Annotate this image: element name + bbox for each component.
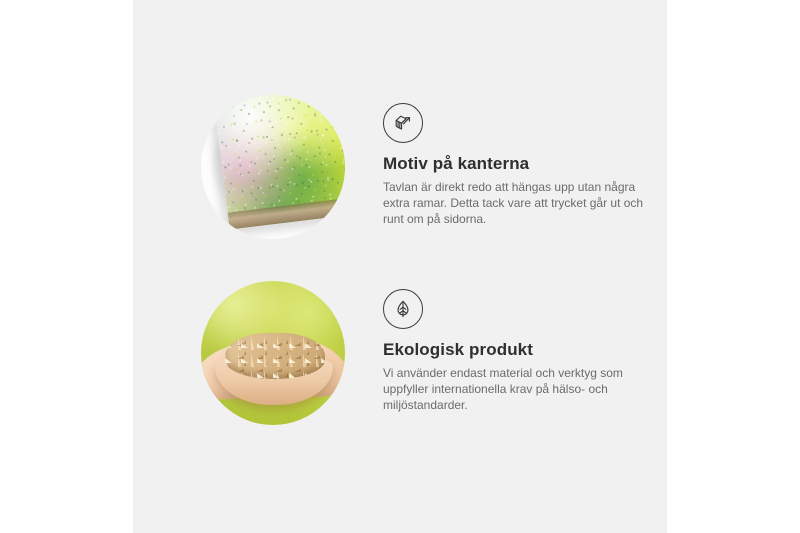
product-feature-page: Motiv på kanterna Tavlan är direkt redo … <box>0 0 800 533</box>
feature-body: Tavlan är direkt redo att hängas upp uta… <box>383 179 651 227</box>
canvas-print-edge-photo <box>201 95 345 239</box>
canvas-print-object <box>214 95 345 230</box>
content-panel <box>133 0 667 533</box>
feature-text-column: Motiv på kanterna Tavlan är direkt redo … <box>383 95 651 227</box>
leaf-icon <box>383 289 423 329</box>
wood-chips <box>225 333 325 379</box>
canvas-wrap-edge-icon <box>383 103 423 143</box>
feature-text-column: Ekologisk produkt Vi använder endast mat… <box>383 281 651 413</box>
feature-heading: Motiv på kanterna <box>383 154 651 174</box>
feature-block-ekologisk-produkt: Ekologisk produkt Vi använder endast mat… <box>201 281 651 425</box>
feature-block-motiv-pa-kanterna: Motiv på kanterna Tavlan är direkt redo … <box>201 95 651 239</box>
feature-body: Vi använder endast material och verktyg … <box>383 365 651 413</box>
wood-chips-in-hands-photo <box>201 281 345 425</box>
feature-heading: Ekologisk produkt <box>383 340 651 360</box>
